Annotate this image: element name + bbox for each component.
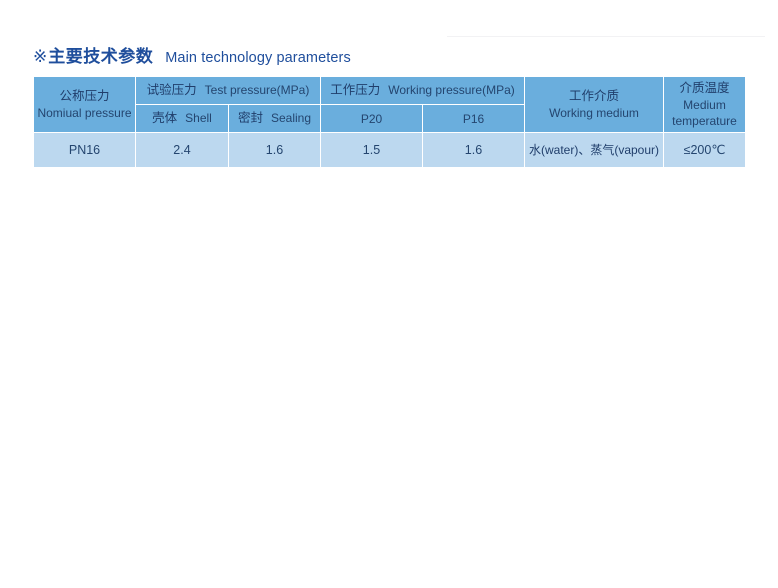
- cell-working-p20-value: 1.5: [363, 143, 380, 157]
- header-medium-temperature-cn: 介质温度: [679, 80, 729, 97]
- header-working-p20: P20: [321, 105, 423, 133]
- cell-test-shell: 2.4: [136, 133, 229, 168]
- header-working-medium: 工作介质 Working medium: [525, 77, 664, 133]
- header-test-sealing-cn: 密封: [238, 110, 263, 127]
- page-title-english: Main technology parameters: [165, 50, 351, 66]
- cell-working-medium-value: 水(water)、蒸气(vapour): [529, 143, 659, 157]
- header-working-pressure-cn: 工作压力: [330, 82, 380, 99]
- page-title: ※ 主要技术参数 Main technology parameters: [33, 42, 351, 67]
- header-test-shell-cn: 壳体: [152, 110, 177, 127]
- header-test-sealing: 密封 Sealing: [229, 105, 321, 133]
- cell-medium-temperature-value: ≤200℃: [684, 143, 726, 157]
- header-nominal-pressure: 公称压力 Nomiual pressure: [34, 77, 136, 133]
- header-test-shell: 壳体 Shell: [136, 105, 229, 133]
- cell-working-p16: 1.6: [423, 133, 525, 168]
- decorative-artifact-line: [447, 36, 765, 37]
- header-working-p16: P16: [423, 105, 525, 133]
- header-working-medium-en: Working medium: [549, 105, 639, 121]
- cell-working-p16-value: 1.6: [465, 143, 482, 157]
- cell-working-medium: 水(water)、蒸气(vapour): [525, 133, 664, 168]
- cell-working-p20: 1.5: [321, 133, 423, 168]
- header-medium-temperature-en-line1: Medium: [683, 97, 726, 113]
- header-medium-temperature: 介质温度 Medium temperature: [664, 77, 746, 133]
- table-row: PN16 2.4 1.6 1.5 1.6 水(water)、蒸气(vapour)…: [34, 133, 746, 168]
- header-working-pressure: 工作压力 Working pressure(MPa): [321, 77, 525, 105]
- technical-parameters-table: 公称压力 Nomiual pressure 试验压力 Test pressure…: [33, 76, 746, 168]
- header-test-pressure-cn: 试验压力: [147, 82, 197, 99]
- cell-nominal-pressure-value: PN16: [69, 143, 100, 157]
- reference-mark-icon: ※: [33, 48, 47, 65]
- header-working-pressure-en: Working pressure(MPa): [388, 82, 514, 98]
- table-header-row-top: 公称压力 Nomiual pressure 试验压力 Test pressure…: [34, 77, 746, 105]
- page-title-chinese: 主要技术参数: [48, 42, 153, 67]
- header-test-shell-en: Shell: [185, 110, 212, 126]
- header-medium-temperature-en-line2: temperature: [672, 113, 737, 129]
- header-nominal-pressure-en: Nomiual pressure: [37, 105, 131, 121]
- header-test-pressure: 试验压力 Test pressure(MPa): [136, 77, 321, 105]
- cell-medium-temperature: ≤200℃: [664, 133, 746, 168]
- cell-test-sealing: 1.6: [229, 133, 321, 168]
- header-test-sealing-en: Sealing: [271, 110, 311, 126]
- cell-test-shell-value: 2.4: [173, 143, 190, 157]
- header-working-p16-label: P16: [463, 112, 484, 126]
- header-working-p20-label: P20: [361, 112, 382, 126]
- cell-nominal-pressure: PN16: [34, 133, 136, 168]
- cell-test-sealing-value: 1.6: [266, 143, 283, 157]
- header-nominal-pressure-cn: 公称压力: [59, 88, 109, 105]
- header-test-pressure-en: Test pressure(MPa): [205, 82, 310, 98]
- header-working-medium-cn: 工作介质: [569, 88, 619, 105]
